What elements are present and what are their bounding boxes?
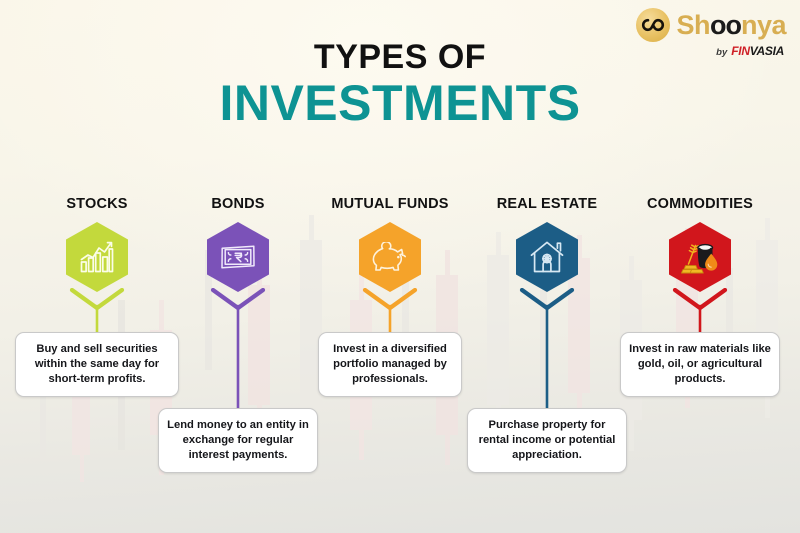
hexagon-shape-commodities (669, 222, 731, 292)
logo-text: Sh oo nya (676, 12, 786, 39)
hexagon-badge-mutual-funds[interactable] (359, 222, 421, 292)
logo-company-fin: FIN (731, 44, 749, 58)
logo-company-vasia: VASIA (750, 44, 784, 58)
label-mutual-funds: MUTUAL FUNDS (310, 196, 470, 212)
label-bonds: BONDS (158, 196, 318, 212)
logo-text-sh: Sh (676, 12, 710, 39)
description-text-commodities: Invest in raw materials like gold, oil, … (629, 343, 771, 385)
title-line-2: INVESTMENTS (0, 76, 800, 130)
logo-text-nya: nya (741, 12, 786, 39)
description-card-stocks[interactable]: Buy and sell securities within the same … (15, 332, 179, 397)
rupee-banknote-icon (219, 244, 257, 270)
infinity-coin-icon (636, 8, 670, 42)
oil-barrel-gold-icon (680, 240, 720, 274)
brand-logo: Sh oo nya by FINVASIA (636, 8, 786, 58)
hexagon-shape-real-estate (516, 222, 578, 292)
description-text-bonds: Lend money to an entity in exchange for … (167, 419, 309, 461)
hexagon-badge-real-estate[interactable] (516, 222, 578, 292)
description-card-bonds[interactable]: Lend money to an entity in exchange for … (158, 408, 318, 473)
description-text-stocks: Buy and sell securities within the same … (35, 343, 159, 385)
logo-company-name: FINVASIA (731, 44, 784, 58)
infographic-canvas: Sh oo nya by FINVASIA TYPES OF INVESTMEN… (0, 0, 800, 533)
hexagon-shape-bonds (207, 222, 269, 292)
description-text-mutual-funds: Invest in a diversified portfolio manage… (333, 343, 447, 385)
logo-by-label: by (716, 47, 727, 58)
hexagon-badge-stocks[interactable] (66, 222, 128, 292)
label-real-estate: REAL ESTATE (467, 196, 627, 212)
hexagon-badge-commodities[interactable] (669, 222, 731, 292)
piggy-bank-icon (371, 242, 409, 273)
logo-text-oo: oo (710, 12, 741, 39)
description-card-commodities[interactable]: Invest in raw materials like gold, oil, … (620, 332, 780, 397)
description-text-real-estate: Purchase property for rental income or p… (479, 419, 616, 461)
description-card-real-estate[interactable]: Purchase property for rental income or p… (467, 408, 627, 473)
hexagon-shape-mutual-funds (359, 222, 421, 292)
logo-byline: by FINVASIA (716, 44, 784, 58)
house-icon (529, 240, 565, 274)
description-card-mutual-funds[interactable]: Invest in a diversified portfolio manage… (318, 332, 462, 397)
label-stocks: STOCKS (17, 196, 177, 212)
logo-wordmark-row: Sh oo nya (636, 8, 786, 42)
bar-chart-growth-icon (80, 241, 114, 273)
hexagon-shape-stocks (66, 222, 128, 292)
label-commodities: COMMODITIES (620, 196, 780, 212)
hexagon-badge-bonds[interactable] (207, 222, 269, 292)
